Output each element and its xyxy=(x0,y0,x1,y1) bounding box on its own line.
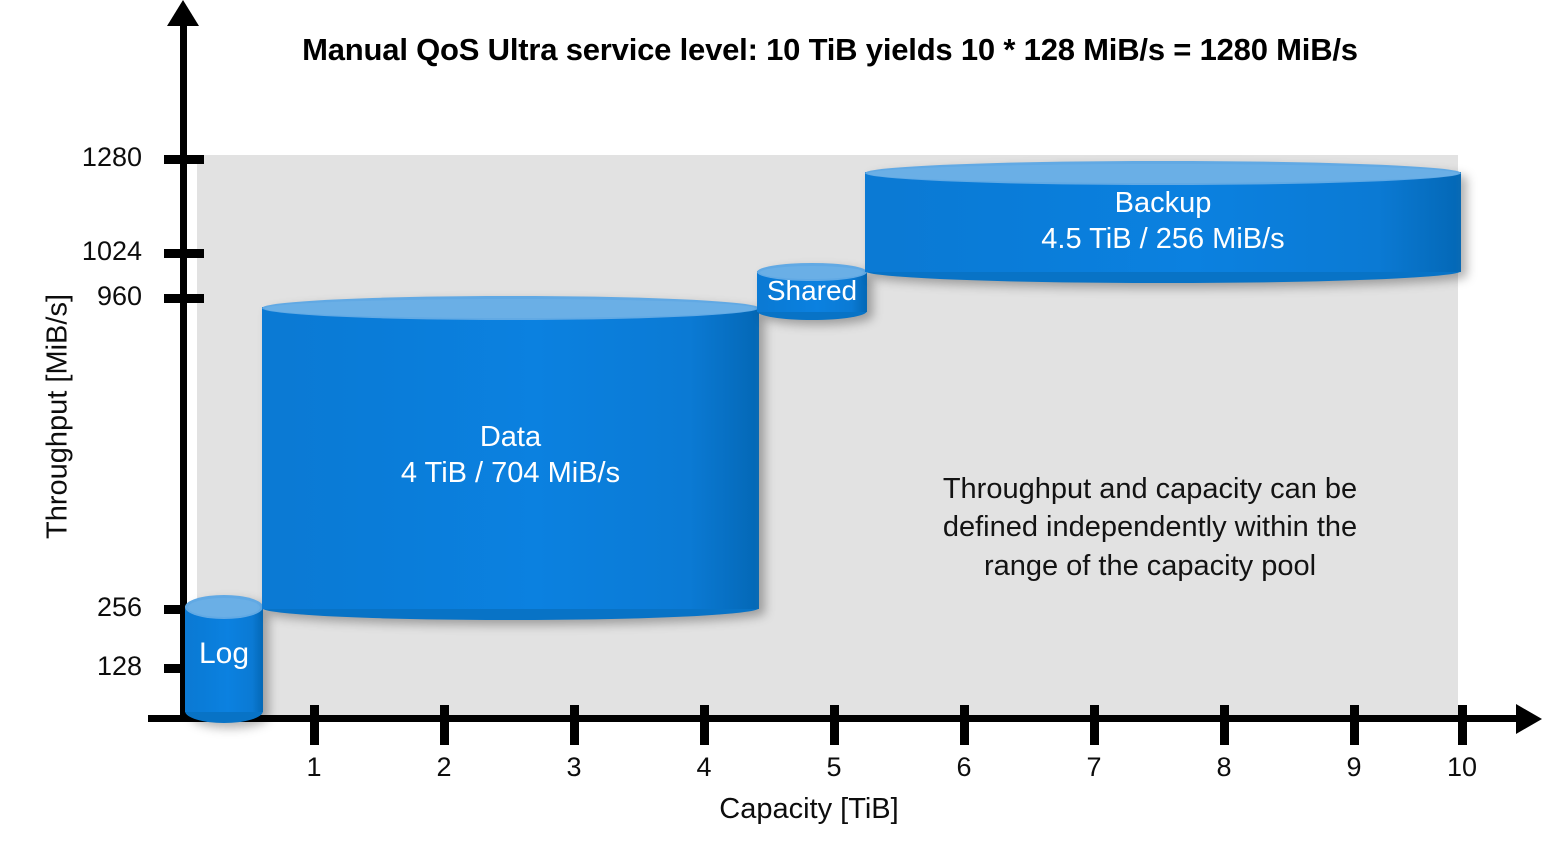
cylinder-top-inner xyxy=(188,598,260,617)
cylinder-bottom-cover xyxy=(757,299,867,311)
x-axis-title: Capacity [TiB] xyxy=(579,793,1039,826)
x-tick-mark xyxy=(1458,705,1467,745)
y-tick-label-text: 1280 xyxy=(42,142,142,173)
y-tick-mark xyxy=(164,155,204,164)
x-tick-label: 2 xyxy=(414,752,474,783)
x-tick-mark xyxy=(1090,705,1099,745)
y-tick-label-text: 128 xyxy=(42,651,142,682)
cylinder-top-inner xyxy=(868,164,1458,183)
x-tick-mark xyxy=(830,705,839,745)
y-tick-mark xyxy=(164,249,204,258)
cylinder-top-ellipse xyxy=(757,263,867,281)
annotation-line-3: range of the capacity pool xyxy=(880,547,1420,585)
x-tick-label: 8 xyxy=(1194,752,1254,783)
y-tick-mark xyxy=(164,294,204,303)
cylinder-bottom-cover xyxy=(865,255,1461,271)
x-tick-mark xyxy=(310,705,319,745)
x-tick-mark xyxy=(700,705,709,745)
cylinder-bottom-cover xyxy=(185,695,263,711)
x-tick-label: 1 xyxy=(284,752,344,783)
x-tick-mark xyxy=(1220,705,1229,745)
x-tick-mark xyxy=(440,705,449,745)
annotation-line-1: Throughput and capacity can be xyxy=(880,470,1420,508)
cylinder-shared[interactable]: Shared xyxy=(757,263,867,320)
x-tick-label: 4 xyxy=(674,752,734,783)
x-tick-mark xyxy=(1350,705,1359,745)
x-axis-arrow-icon xyxy=(1516,704,1542,734)
annotation-line-2: defined independently within the xyxy=(880,508,1420,546)
cylinder-top-ellipse xyxy=(262,296,759,320)
x-tick-label: 9 xyxy=(1324,752,1384,783)
x-tick-mark xyxy=(570,705,579,745)
x-tick-label: 7 xyxy=(1064,752,1124,783)
x-tick-mark xyxy=(960,705,969,745)
cylinder-bottom-cover xyxy=(262,592,759,608)
y-axis-title: Throughput [MiB/s] xyxy=(42,217,75,617)
annotation-text: Throughput and capacity can be defined i… xyxy=(880,470,1420,585)
cylinder-log[interactable]: Log xyxy=(185,595,263,723)
cylinder-top-inner xyxy=(760,266,864,279)
chart-canvas: Manual QoS Ultra service level: 10 TiB y… xyxy=(0,0,1558,847)
chart-title: Manual QoS Ultra service level: 10 TiB y… xyxy=(200,32,1460,68)
x-tick-label: 5 xyxy=(804,752,864,783)
cylinder-top-ellipse xyxy=(865,161,1461,185)
cylinder-backup[interactable]: Backup 4.5 TiB / 256 MiB/s xyxy=(865,161,1461,283)
cylinder-top-ellipse xyxy=(185,595,263,619)
cylinder-body xyxy=(262,307,759,609)
x-tick-label: 6 xyxy=(934,752,994,783)
cylinder-data[interactable]: Data 4 TiB / 704 MiB/s xyxy=(262,296,759,620)
cylinder-top-inner xyxy=(265,299,756,318)
x-tick-label: 10 xyxy=(1432,752,1492,783)
y-axis-arrow-icon xyxy=(167,0,199,26)
x-tick-label: 3 xyxy=(544,752,604,783)
